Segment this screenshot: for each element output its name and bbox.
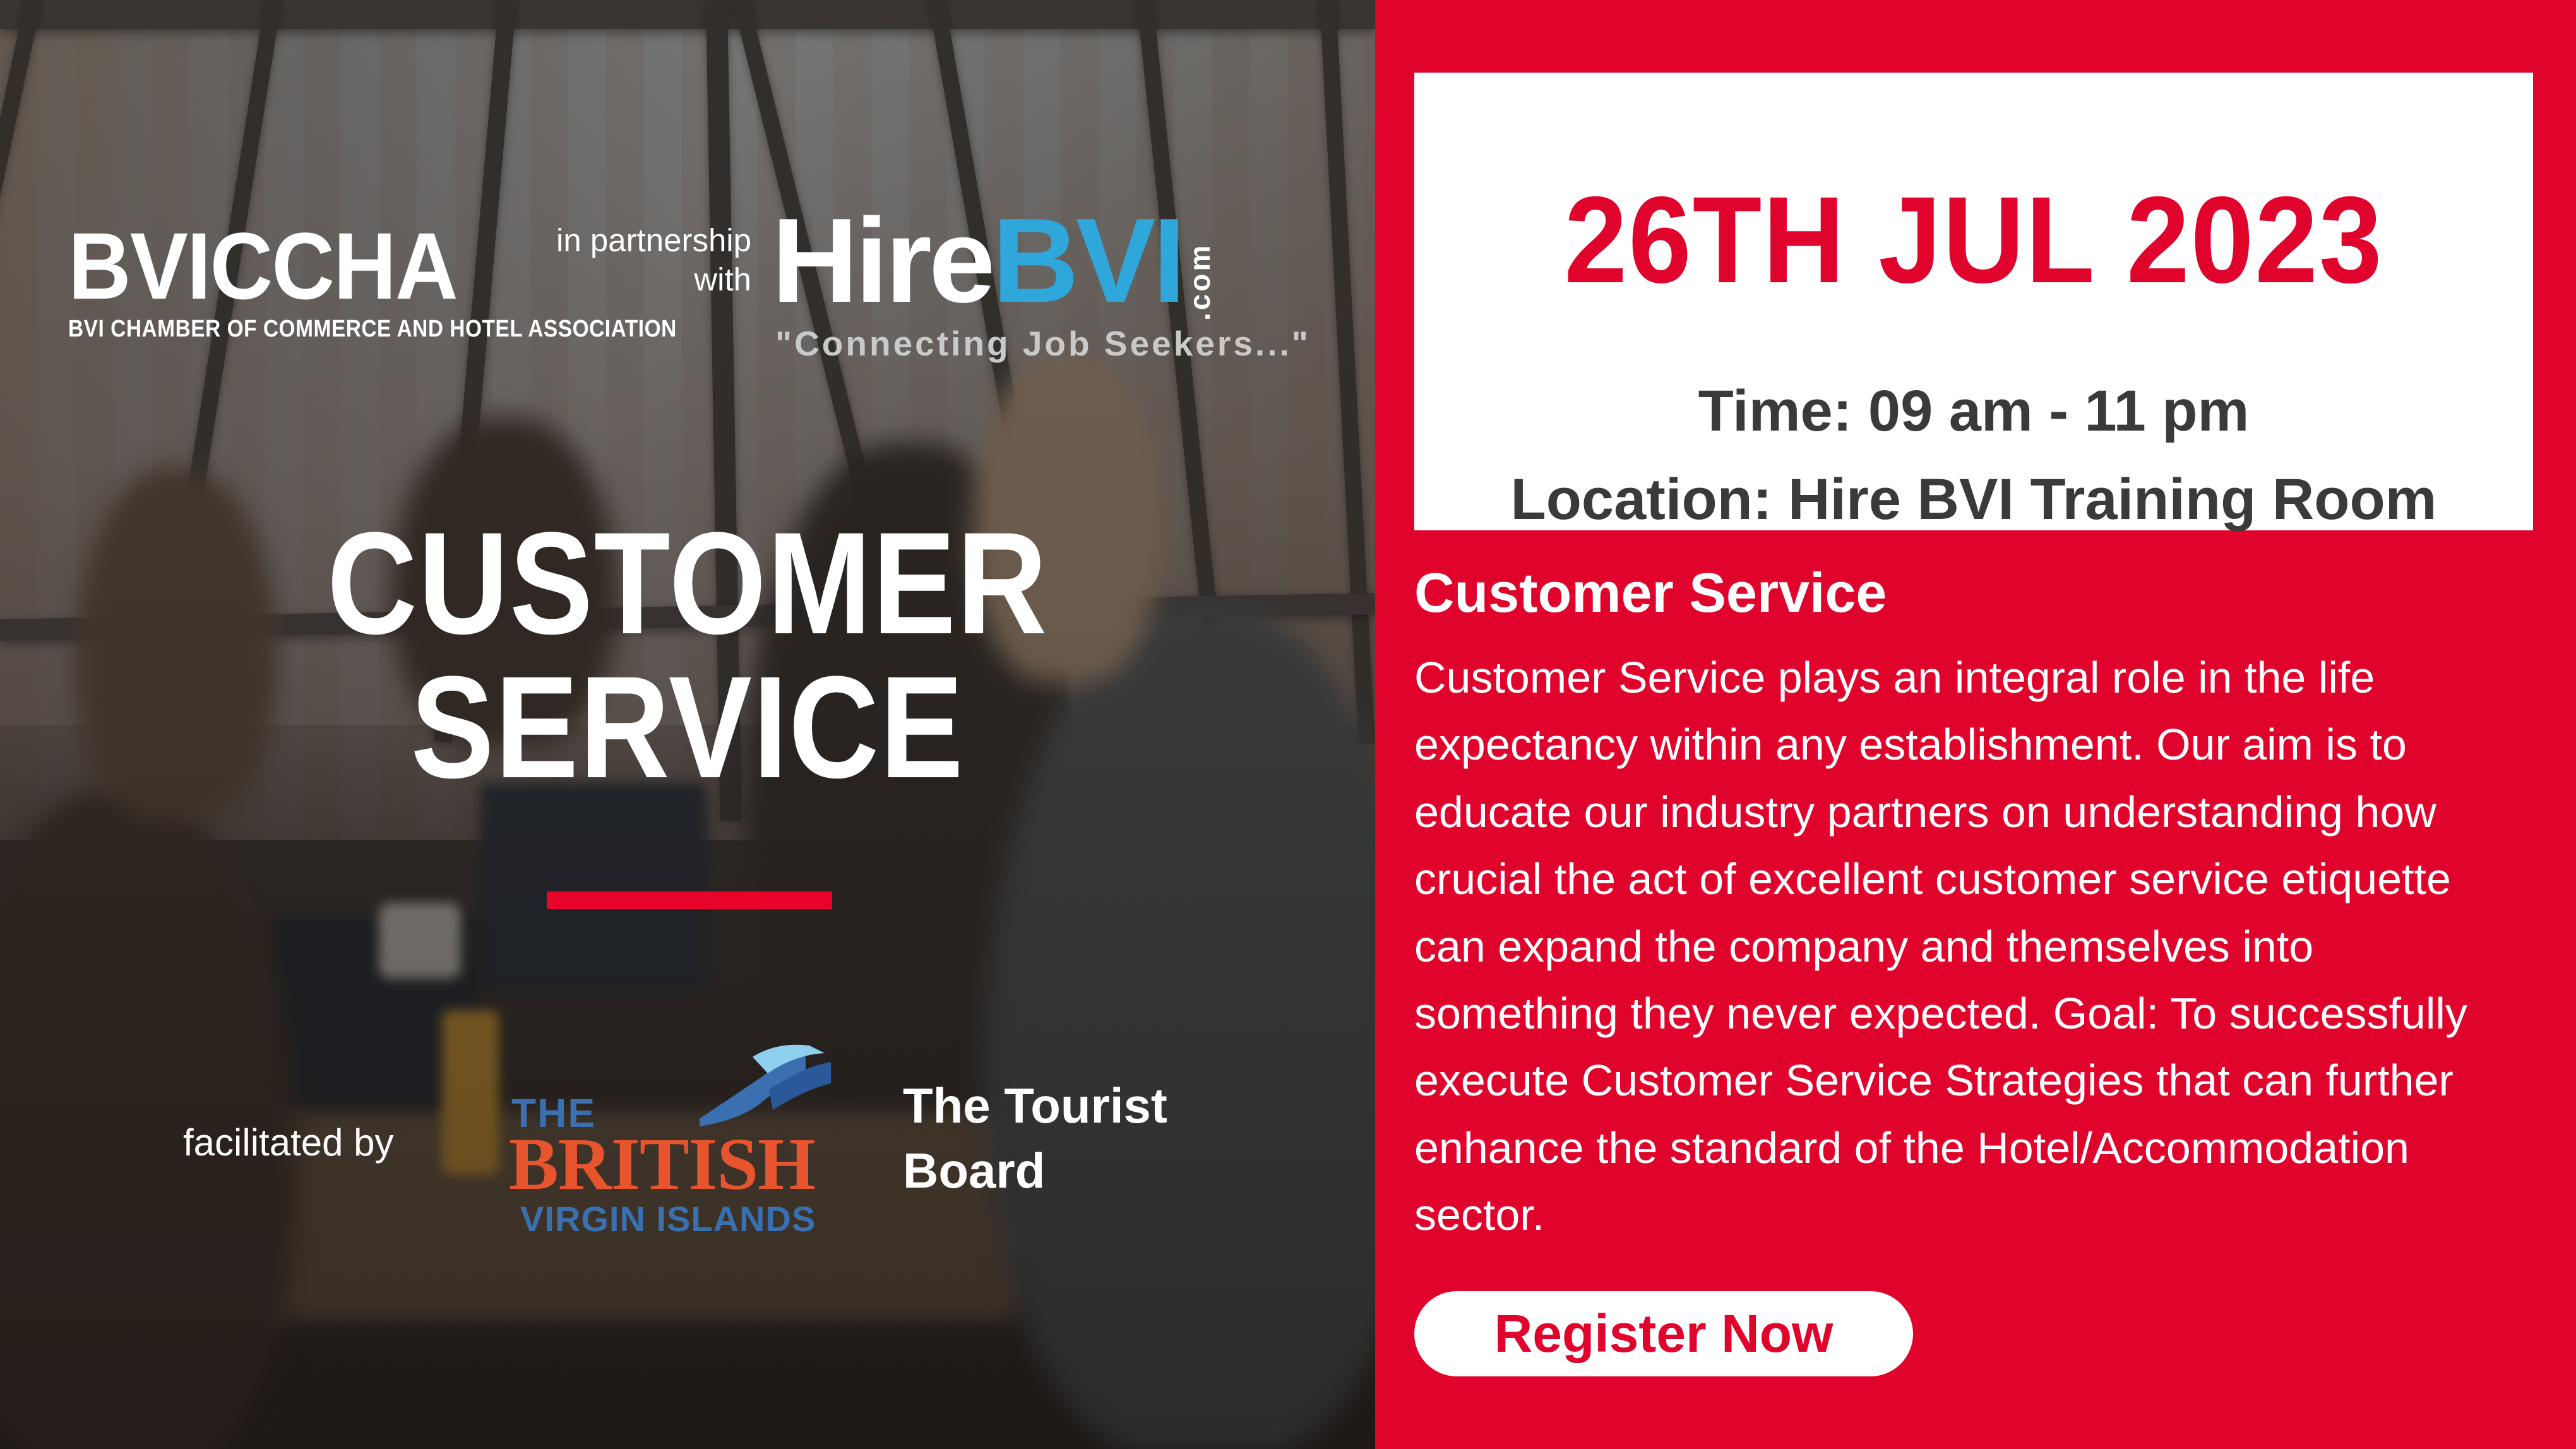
partnership-label: in partnership with [505,221,751,299]
tourist-board-british-text: BRITISH [509,1121,815,1207]
title-underline-rule [547,891,832,909]
details-panel: 26TH JUL 2023 Time: 09 am - 11 pm Locati… [1375,0,2576,1449]
hirebvi-tagline: "Connecting Job Seekers..." [775,323,1311,364]
partner-logos-row: BVICCHA BVI CHAMBER OF COMMERCE AND HOTE… [0,208,1375,391]
hirebvi-domain-suffix: .com [1185,207,1214,321]
event-info-card: 26TH JUL 2023 Time: 09 am - 11 pm Locati… [1414,73,2533,530]
facilitator-name-line-2: Board [903,1138,1231,1203]
register-now-button[interactable]: Register Now [1414,1291,1913,1376]
bvi-tourist-board-logo: THE BRITISH VIRGIN ISLANDS [505,1041,897,1224]
event-title: CUSTOMER SERVICE [96,511,1279,799]
hirebvi-logo: HireBVI .com "Connecting Job Seekers..." [772,201,1311,364]
tourist-board-virgin-islands-text: VIRGIN ISLANDS [520,1198,816,1239]
hirebvi-bvi-text: BVI [993,201,1183,321]
photo-panel: BVICCHA BVI CHAMBER OF COMMERCE AND HOTE… [0,0,1375,1449]
sail-wave-icon [695,1044,840,1133]
event-flyer: BVICCHA BVI CHAMBER OF COMMERCE AND HOTE… [0,0,2576,1449]
event-date: 26TH JUL 2023 [1459,179,2488,302]
facilitated-by-label: facilitated by [183,1121,394,1164]
details-heading: Customer Service [1414,565,2525,621]
facilitator-name-line-1: The Tourist [903,1073,1231,1138]
event-time: Time: 09 am - 11 pm [1414,382,2533,440]
facilitator-name: The Tourist Board [903,1073,1231,1203]
event-title-line-2: SERVICE [96,655,1279,799]
hirebvi-wordmark: HireBVI .com [772,201,1311,321]
bviccha-subtitle: BVI CHAMBER OF COMMERCE AND HOTEL ASSOCI… [68,316,677,343]
event-location: Location: Hire BVI Training Room [1414,470,2533,528]
details-description: Customer Service plays an integral role … [1414,644,2525,1249]
facilitator-row: facilitated by THE BRITISH VIRGIN ISLAND… [0,1035,1375,1225]
hirebvi-hire-text: Hire [772,201,993,321]
event-title-line-1: CUSTOMER [96,511,1279,655]
